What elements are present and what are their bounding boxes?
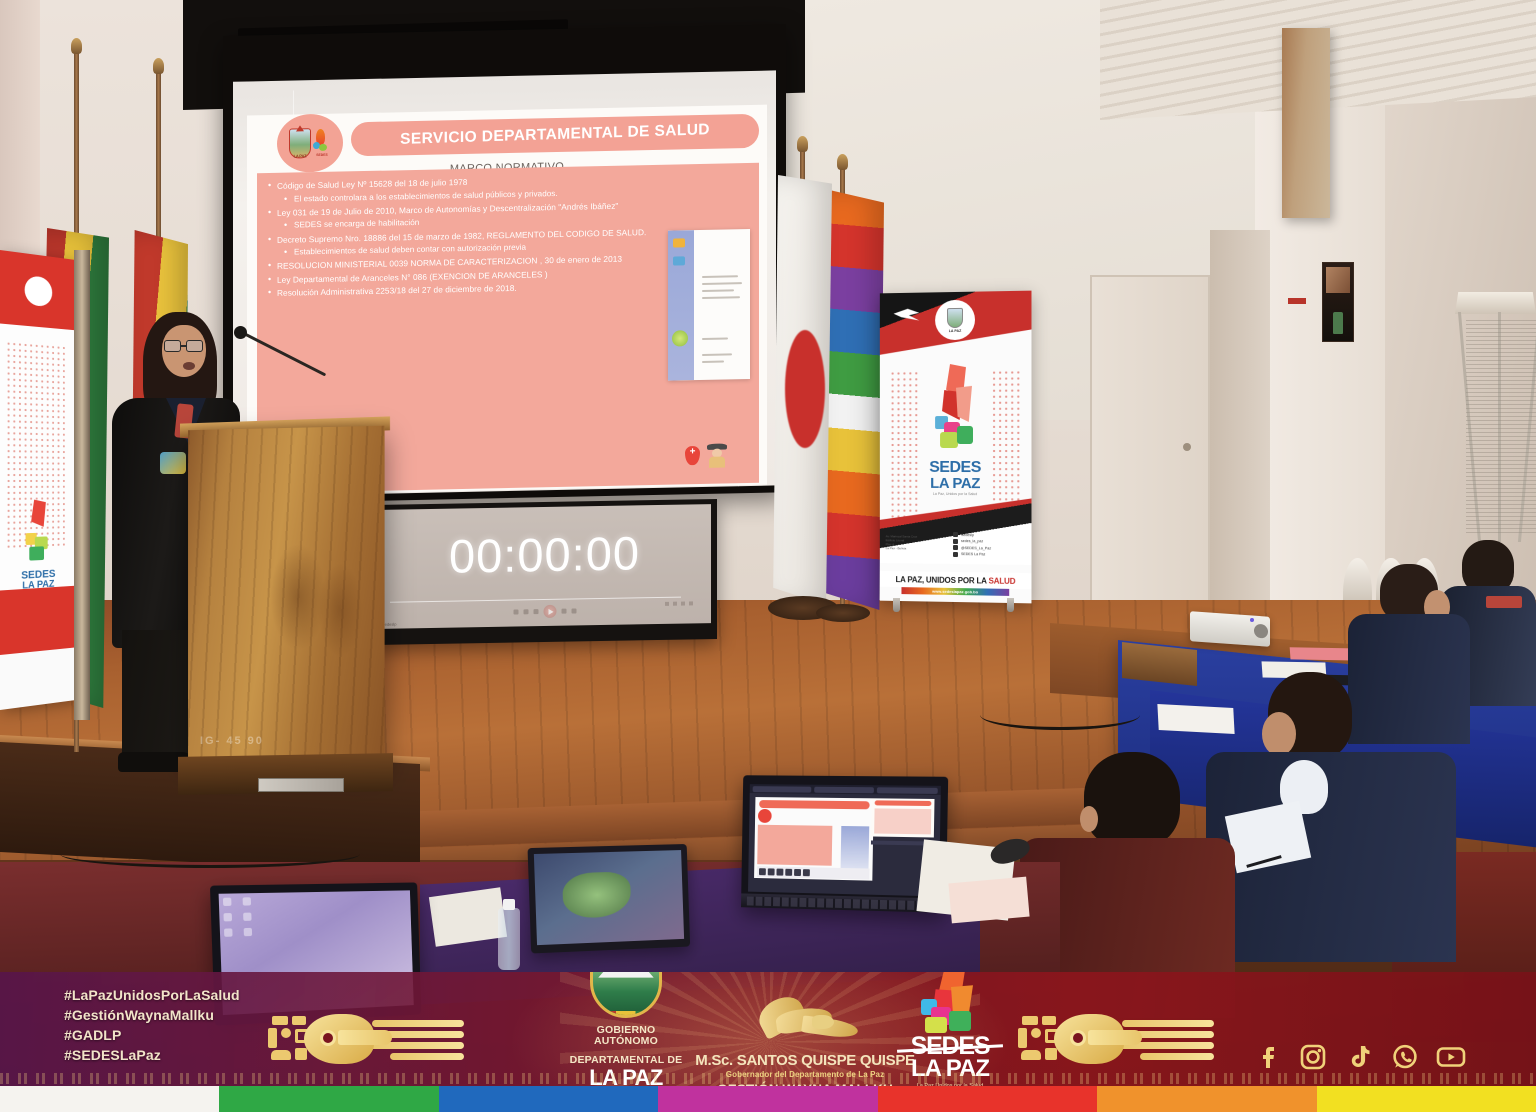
condor-logo-icon bbox=[750, 999, 860, 1051]
rollup-social-youtube: SEDES La Paz bbox=[953, 551, 991, 556]
slide-title: SERVICIO DEPARTAMENTAL DE SALUD bbox=[351, 120, 759, 151]
left-banner-map-icon bbox=[20, 499, 57, 569]
youtube-icon bbox=[953, 551, 958, 556]
rollup-bird-icon bbox=[894, 309, 920, 321]
rollup-dots-left bbox=[890, 370, 920, 529]
rollup-address: Av. Mariscal Santa CruzEdificio LitoralP… bbox=[886, 536, 917, 552]
audience-person-front-head bbox=[1084, 752, 1180, 848]
facebook-icon[interactable] bbox=[1252, 1042, 1282, 1072]
left-banner-stand-edge bbox=[74, 250, 90, 720]
audience-person-epaulette bbox=[1486, 596, 1522, 608]
microphone-head-icon bbox=[234, 326, 247, 339]
rollup-address-line: La Paz - Bolivia bbox=[886, 547, 917, 551]
laptop-toolbar[interactable] bbox=[757, 866, 870, 879]
rollup-brand: SEDES LA PAZ La Paz, Unidos por la Salud bbox=[880, 460, 1032, 497]
rollup-brand-line1: SEDES bbox=[880, 460, 1032, 476]
flagpole-finial bbox=[837, 154, 848, 170]
instagram-icon[interactable] bbox=[1298, 1042, 1328, 1072]
color-strip-segment bbox=[658, 1086, 877, 1112]
speaker-mouth bbox=[183, 362, 195, 370]
speaker-id-badge bbox=[160, 452, 186, 474]
slide-document-image bbox=[668, 229, 750, 381]
rollup-crest-label: LA PAZ bbox=[949, 328, 962, 332]
laptop-tab-bar[interactable] bbox=[750, 784, 941, 795]
social-media-icons[interactable] bbox=[1252, 1042, 1466, 1072]
podium-nameplate bbox=[258, 778, 344, 792]
rollup-website: www.sedeslapaz.gob.bo bbox=[901, 587, 1009, 596]
condor-eye-icon bbox=[320, 1030, 336, 1046]
floor-lamp-shade bbox=[1455, 292, 1536, 314]
condor-beak-icon bbox=[338, 1030, 392, 1045]
projector bbox=[1190, 611, 1270, 647]
rollup-crest-icon: LA PAZ bbox=[935, 300, 975, 341]
laptop-secondary[interactable] bbox=[528, 844, 691, 954]
rollup-brand-line2: LA PAZ bbox=[880, 476, 1032, 492]
crest-label: LA PAZ bbox=[290, 153, 310, 158]
facebook-icon bbox=[953, 532, 958, 537]
sedes-map-icon bbox=[917, 972, 983, 1033]
slide-title-pill: SERVICIO DEPARTAMENTAL DE SALUD bbox=[351, 114, 759, 157]
health-pin-icon bbox=[685, 446, 700, 465]
rollup-social-handle: @SEDES_La_Paz bbox=[961, 546, 991, 550]
sedes-rollup-banner: LA PAZ SEDES LA PAZ La Paz, Unidos por l… bbox=[880, 291, 1032, 604]
door-knob[interactable] bbox=[1183, 443, 1191, 451]
condor-beak-icon bbox=[1088, 1030, 1142, 1045]
wiphala-flag bbox=[826, 190, 884, 610]
flagpole-finial bbox=[153, 58, 164, 74]
laptop-desktop-icons[interactable] bbox=[223, 897, 256, 937]
hashtag: #SEDESLaPaz bbox=[64, 1046, 240, 1066]
japan-flag bbox=[772, 175, 832, 605]
crest-ribbon bbox=[596, 1011, 656, 1018]
rollup-website-text: www.sedeslapaz.gob.bo bbox=[932, 589, 978, 595]
instagram-icon bbox=[953, 538, 958, 543]
rollup-map-icon bbox=[930, 364, 980, 456]
video-progress-bar[interactable] bbox=[390, 596, 681, 603]
floor-cable bbox=[980, 700, 1140, 730]
rollup-social-twitter: @SEDES_La_Paz bbox=[953, 545, 991, 550]
rollup-stand-legs bbox=[879, 598, 1031, 612]
rollup-social-handle: sedes_la_paz bbox=[961, 539, 983, 543]
water-bottle bbox=[498, 908, 520, 970]
wall-poster bbox=[1322, 262, 1354, 342]
color-strip-segment bbox=[878, 1086, 1097, 1112]
slide-header: LA PAZ SEDES SERVICIO DEPARTAMENTAL DE S… bbox=[247, 105, 767, 174]
sedes-logo-icon: SEDES bbox=[313, 129, 331, 157]
projector-stand bbox=[1122, 642, 1197, 686]
auditorium-scene: LA PAZ SEDES SERVICIO DEPARTAMENTAL DE S… bbox=[0, 0, 1536, 1112]
la-paz-coat-of-arms-icon bbox=[590, 972, 662, 1018]
la-paz-crest-icon: LA PAZ bbox=[289, 128, 311, 158]
whatsapp-icon[interactable] bbox=[1390, 1042, 1420, 1072]
left-banner-brand: SEDES LA PAZ bbox=[0, 568, 75, 593]
laptop-slide-canvas[interactable] bbox=[754, 797, 874, 881]
hashtag: #GestiónWaynaMallku bbox=[64, 1006, 240, 1026]
wall-speaker-box bbox=[1282, 28, 1330, 218]
floor-lamp-mesh bbox=[1466, 318, 1536, 533]
laptop-presentation[interactable] bbox=[741, 775, 948, 913]
youtube-icon[interactable] bbox=[1436, 1042, 1466, 1072]
rollup-slogan-main: LA PAZ, UNIDOS POR LA bbox=[896, 575, 989, 585]
ornament-right bbox=[1018, 1004, 1218, 1074]
japan-flag-sun bbox=[785, 330, 825, 448]
laurel-right-icon bbox=[656, 972, 662, 1015]
ornament-left bbox=[268, 1004, 468, 1074]
hashtag: #LaPazUnidosPorLaSalud bbox=[64, 986, 240, 1006]
wall-recess bbox=[1210, 230, 1270, 650]
rollup-social-handle: Sedeslp bbox=[961, 533, 974, 537]
rollup-social-facebook: Sedeslp bbox=[953, 532, 991, 537]
rollup-social-list: Sedeslpsedes_la_paz@SEDES_La_PazSEDES La… bbox=[953, 532, 991, 558]
projector-led-icon bbox=[1250, 618, 1254, 622]
slide-logo: LA PAZ SEDES bbox=[277, 113, 343, 172]
sedes-logo-label: SEDES bbox=[313, 153, 331, 157]
color-strip-segment bbox=[1097, 1086, 1316, 1112]
color-strip-segment bbox=[0, 1086, 219, 1112]
tiktok-icon[interactable] bbox=[1344, 1042, 1374, 1072]
timer-digits: 00:00:00 bbox=[449, 525, 640, 583]
flagpole-finial bbox=[797, 136, 808, 152]
laptop-slide-thumbnail[interactable] bbox=[871, 798, 934, 837]
condor-eye-icon bbox=[1070, 1030, 1086, 1046]
flag-stand-base bbox=[816, 604, 870, 622]
left-rollup-banner: SEDES LA PAZ bbox=[0, 250, 75, 710]
color-strip-segment bbox=[439, 1086, 658, 1112]
speaker-glasses-icon bbox=[164, 340, 206, 352]
laptop-secondary-screen[interactable] bbox=[534, 850, 684, 945]
podium-knot bbox=[317, 562, 363, 659]
laurel-left-icon bbox=[590, 972, 596, 1015]
gov-line1: GOBIERNO AUTÓNOMO bbox=[566, 1025, 686, 1048]
audience-person-front-ear bbox=[1080, 806, 1098, 832]
timer-display-screen: 00:00:00 Sedeslp bbox=[378, 504, 711, 629]
rollup-social-instagram: sedes_la_paz bbox=[953, 538, 991, 543]
podium-marking: IG- 45 90 bbox=[200, 735, 264, 747]
video-controls[interactable] bbox=[513, 604, 576, 618]
health-worker-icon bbox=[707, 443, 727, 467]
floor-cable bbox=[60, 840, 360, 868]
hashtag-list: #LaPazUnidosPorLaSalud#GestiónWaynaMallk… bbox=[64, 986, 240, 1066]
desk-paper-pink bbox=[948, 877, 1029, 924]
audience-person-upper-body bbox=[1348, 614, 1470, 744]
color-strip-segment bbox=[1317, 1086, 1536, 1112]
left-banner-crest-icon bbox=[25, 275, 53, 307]
podium bbox=[188, 426, 385, 766]
rollup-social-handle: SEDES La Paz bbox=[961, 552, 985, 556]
twitter-icon bbox=[953, 545, 958, 550]
timer-display-frame: 00:00:00 Sedeslp bbox=[372, 499, 717, 645]
desk-paper-left bbox=[429, 887, 507, 947]
video-controls-right[interactable] bbox=[665, 601, 693, 605]
door[interactable] bbox=[1090, 275, 1210, 645]
flagpole-finial bbox=[71, 38, 82, 54]
andean-meander-pattern bbox=[0, 1073, 1536, 1084]
audience-person-mid-face bbox=[1262, 712, 1296, 756]
play-button-icon[interactable] bbox=[543, 605, 556, 618]
rollup-header-wave: LA PAZ bbox=[880, 291, 1032, 355]
table-document bbox=[1157, 704, 1234, 734]
slide-health-badge-icon bbox=[685, 441, 729, 480]
hashtag: #GADLP bbox=[64, 1026, 240, 1046]
bottom-color-strip bbox=[0, 1086, 1536, 1112]
wall-sign bbox=[1288, 298, 1306, 304]
color-strip-segment bbox=[219, 1086, 438, 1112]
rollup-slogan-accent: SALUD bbox=[989, 576, 1016, 585]
sedes-brand-line1: SEDES bbox=[880, 1035, 1020, 1058]
laptop-presentation-screen[interactable] bbox=[748, 784, 941, 896]
